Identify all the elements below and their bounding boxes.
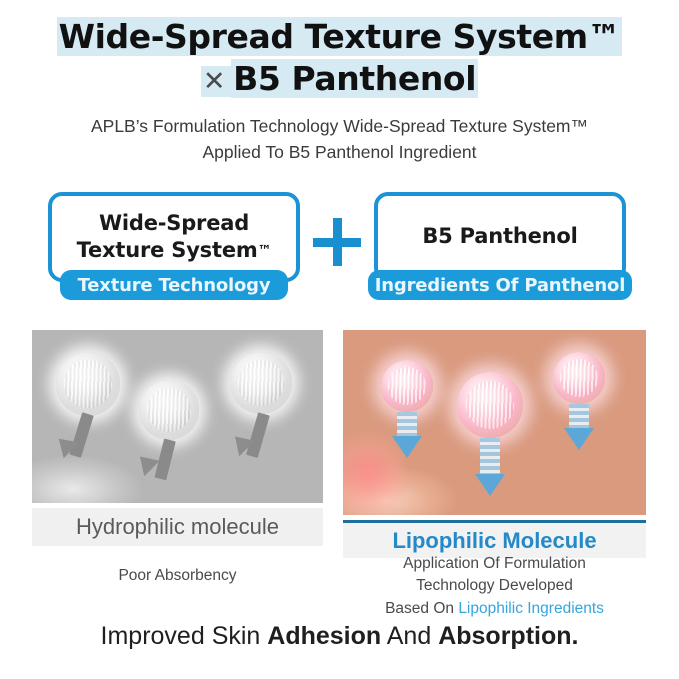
hydrophilic-molecule-bubble	[139, 380, 199, 440]
hydrophilic-molecule-bubble	[230, 352, 292, 414]
cross-icon: ✕	[201, 66, 231, 97]
hydrophilic-panel-image	[32, 330, 323, 503]
tagline-part-2: And	[381, 622, 438, 650]
lipophilic-footnote-prefix: Based On	[385, 600, 458, 617]
penetration-arrow-stripe-icon	[569, 404, 589, 430]
molecule-core-icon	[64, 360, 111, 407]
title-line-2-text: B5 Panthenol	[231, 59, 478, 98]
lipophilic-footnote-line-3: Based On Lipophilic Ingredients	[343, 598, 646, 620]
molecule-core-icon	[466, 381, 515, 430]
page-title: Wide-Spread Texture System™ ✕B5 Pantheno…	[0, 16, 679, 100]
penetration-arrow-stripe-icon	[397, 412, 417, 438]
title-line-2: ✕B5 Panthenol	[0, 58, 679, 100]
b5-panthenol-box-text: B5 Panthenol	[422, 223, 577, 250]
molecule-core-icon	[388, 367, 427, 406]
ingredients-of-panthenol-pill: Ingredients Of Panthenol	[368, 270, 632, 300]
comparison-panels: Hydrophilic molecule Lipophilic Molecule	[0, 330, 679, 550]
subtitle-line-2: Applied To B5 Panthenol Ingredient	[0, 139, 679, 165]
lipophilic-molecule-bubble	[457, 372, 523, 438]
lipophilic-footnote-line-2: Technology Developed	[343, 575, 646, 597]
lipophilic-caption-text: Lipophilic Molecule	[392, 528, 596, 554]
molecule-core-icon	[560, 359, 599, 398]
texture-technology-pill: Texture Technology	[60, 270, 288, 300]
title-line-1-text: Wide-Spread Texture System™	[57, 17, 623, 56]
penetration-arrow-head-icon	[564, 428, 594, 450]
tagline-part-1: Improved Skin	[101, 622, 268, 650]
texture-system-line-2: Texture System	[77, 238, 258, 262]
subtitle: APLB’s Formulation Technology Wide-Sprea…	[0, 113, 679, 166]
molecule-core-icon	[147, 388, 191, 432]
plus-icon	[313, 218, 361, 266]
molecule-core-icon	[238, 360, 284, 406]
technology-box-row: Wide-Spread Texture System™ Texture Tech…	[0, 192, 679, 318]
infographic-page: Wide-Spread Texture System™ ✕B5 Pantheno…	[0, 0, 679, 679]
hydrophilic-caption-text: Hydrophilic molecule	[76, 514, 279, 540]
lipophilic-molecule-bubble	[381, 360, 433, 412]
penetration-arrow-head-icon	[475, 474, 505, 496]
hydrophilic-molecule-bubble	[56, 352, 120, 416]
lipophilic-footnote: Application Of Formulation Technology De…	[343, 553, 646, 620]
title-line-1: Wide-Spread Texture System™	[0, 16, 679, 58]
b5-panthenol-box: B5 Panthenol	[374, 192, 626, 282]
lipophilic-ingredients-accent: Lipophilic Ingredients	[458, 600, 604, 617]
subtitle-line-1: APLB’s Formulation Technology Wide-Sprea…	[0, 113, 679, 139]
texture-system-box-text: Wide-Spread Texture System™	[77, 210, 272, 265]
tagline: Improved Skin Adhesion And Absorption.	[0, 622, 679, 651]
lipophilic-panel-image	[343, 330, 646, 515]
penetration-arrow-stripe-icon	[480, 438, 500, 476]
hydrophilic-footnote: Poor Absorbency	[32, 567, 323, 585]
trademark-icon: ™	[258, 243, 272, 259]
hydrophilic-caption-bar: Hydrophilic molecule	[32, 508, 323, 546]
tagline-bold-adhesion: Adhesion	[267, 622, 381, 650]
penetration-arrow-head-icon	[392, 436, 422, 458]
texture-system-line-1: Wide-Spread	[99, 211, 249, 235]
lipophilic-footnote-line-1: Application Of Formulation	[343, 553, 646, 575]
lipophilic-molecule-bubble	[553, 352, 605, 404]
tagline-bold-absorption: Absorption.	[438, 622, 578, 650]
texture-system-box: Wide-Spread Texture System™	[48, 192, 300, 282]
